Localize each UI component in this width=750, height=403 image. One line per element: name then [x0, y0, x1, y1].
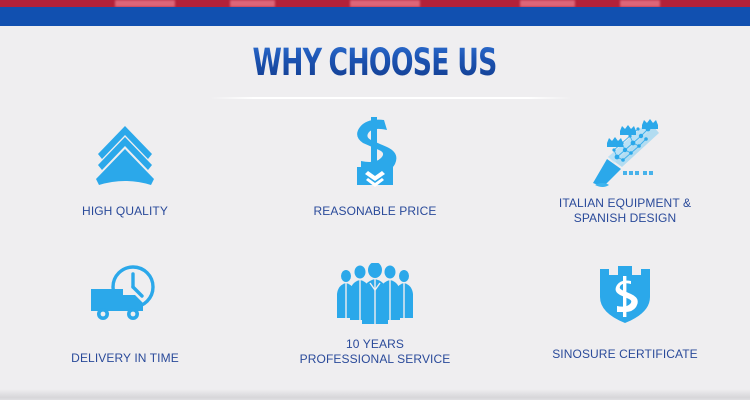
feature-grid: HIGH QUALITY REASONABLE PRICE: [0, 112, 750, 386]
feature-label: 10 YEARS PROFESSIONAL SERVICE: [300, 337, 451, 367]
design-pen-icon: [587, 112, 663, 192]
feature-item-italian-equipment[interactable]: ITALIAN EQUIPMENT & SPANISH DESIGN: [500, 112, 750, 249]
delivery-truck-clock-icon: [89, 249, 161, 335]
page-title: WHYCHOOSE US: [253, 42, 497, 83]
feature-item-reasonable-price[interactable]: REASONABLE PRICE: [250, 112, 500, 249]
title-word-choose-us: CHOOSE US: [329, 41, 497, 84]
why-choose-us-section: WHYCHOOSE US HIGH QUALITY: [0, 0, 750, 403]
feature-label: SINOSURE CERTIFICATE: [552, 347, 698, 362]
shield-dollar-icon: [597, 249, 653, 333]
title-divider: [210, 97, 572, 99]
section-header: WHYCHOOSE US: [0, 42, 750, 83]
title-word-why: WHY: [253, 41, 322, 84]
feature-label: HIGH QUALITY: [82, 204, 168, 219]
feature-label: DELIVERY IN TIME: [71, 351, 179, 366]
top-blue-band: [0, 7, 750, 26]
top-red-stripe: [0, 0, 750, 7]
feature-label: ITALIAN EQUIPMENT & SPANISH DESIGN: [559, 196, 691, 226]
feature-item-delivery-in-time[interactable]: DELIVERY IN TIME: [0, 249, 250, 386]
chevron-stack-icon: [94, 112, 156, 196]
feature-label: REASONABLE PRICE: [314, 204, 437, 219]
feature-item-high-quality[interactable]: HIGH QUALITY: [0, 112, 250, 249]
feature-item-professional-service[interactable]: 10 YEARS PROFESSIONAL SERVICE: [250, 249, 500, 386]
dollar-down-icon: [345, 112, 405, 192]
feature-item-sinosure-certificate[interactable]: SINOSURE CERTIFICATE: [500, 249, 750, 386]
team-people-icon: [336, 249, 414, 333]
banner-gap: [0, 26, 750, 31]
